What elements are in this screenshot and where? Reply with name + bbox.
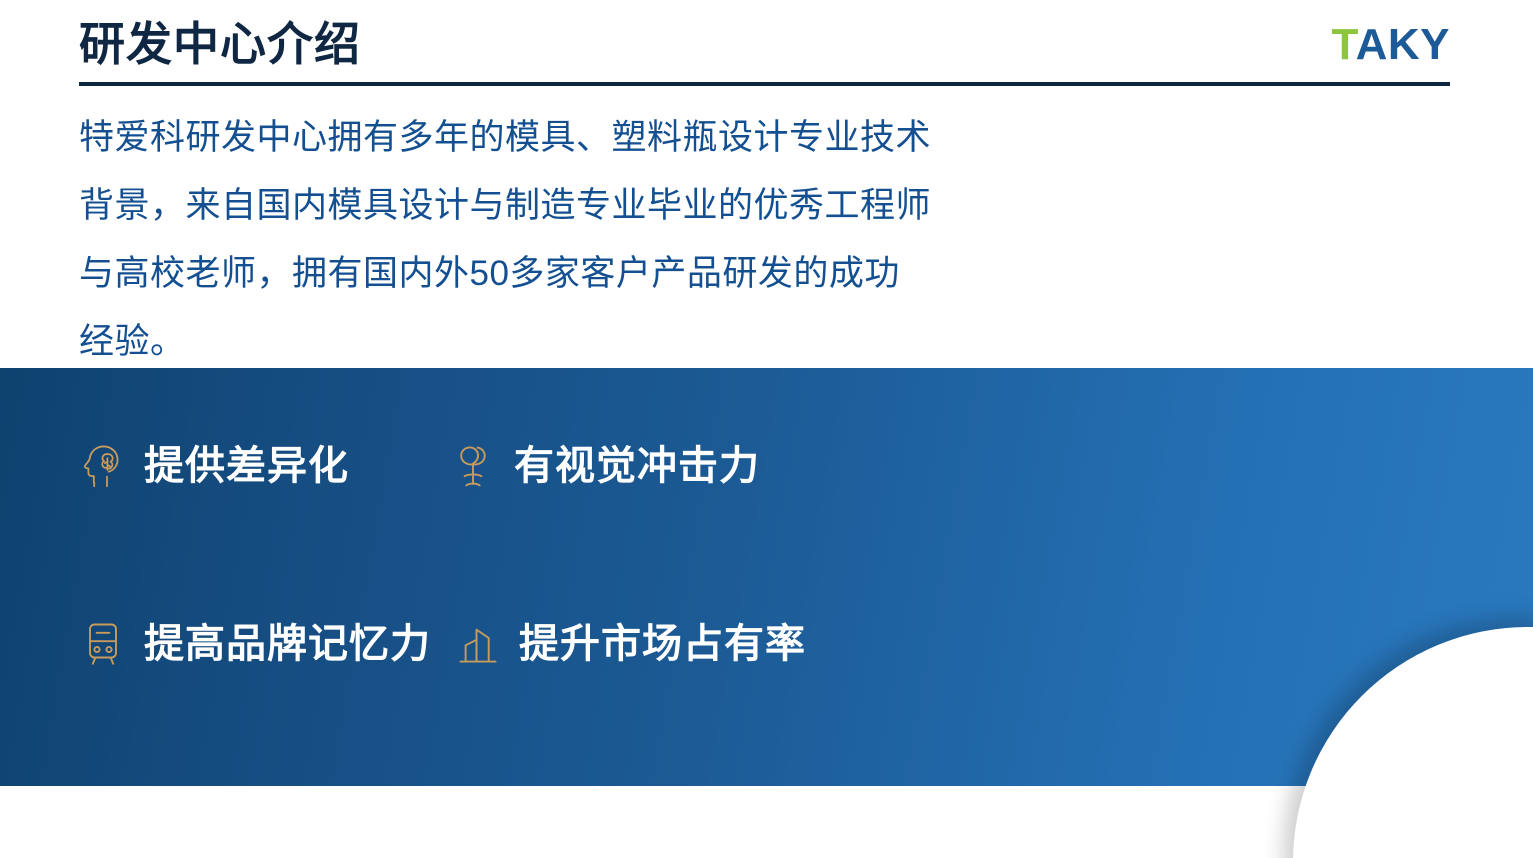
intro-paragraph: 特爱科研发中心拥有多年的模具、塑料瓶设计专业技术 背景，来自国内模具设计与制造专…: [79, 104, 1079, 376]
feature-grid: 提供差异化 有视觉冲击力: [80, 420, 940, 690]
intro-line: 背景，来自国内模具设计与制造专业毕业的优秀工程师: [79, 172, 1079, 240]
feature-row: 提供差异化 有视觉冲击力: [80, 420, 940, 512]
train-icon: [80, 618, 126, 670]
feature-label: 有视觉冲击力: [514, 442, 760, 490]
feature-item-differentiation: 提供差异化: [80, 440, 450, 492]
title-divider: [79, 82, 1450, 86]
logo-rest-letters: AKY: [1356, 20, 1450, 69]
page-title: 研发中心介绍: [79, 16, 361, 72]
slide-root: 研发中心介绍 TAKY 特爱科研发中心拥有多年的模具、塑料瓶设计专业技术 背景，…: [0, 0, 1533, 858]
intro-line: 与高校老师，拥有国内外50多家客户产品研发的成功: [79, 240, 1079, 308]
intro-line: 特爱科研发中心拥有多年的模具、塑料瓶设计专业技术: [79, 104, 1079, 172]
feature-row: 提高品牌记忆力 提升市场占有率: [80, 598, 940, 690]
feature-panel: 提供差异化 有视觉冲击力: [0, 368, 1533, 786]
logo-accent-letter: T: [1331, 20, 1355, 69]
feature-label: 提高品牌记忆力: [144, 620, 431, 668]
sprout-icon: [450, 440, 496, 492]
building-icon: [455, 618, 501, 670]
brand-logo: TAKY: [1331, 19, 1450, 71]
feature-item-brand-memory: 提高品牌记忆力: [80, 618, 455, 670]
intro-line: 经验。: [79, 308, 1079, 376]
feature-item-market-share: 提升市场占有率: [455, 618, 855, 670]
slide-header: 研发中心介绍 TAKY: [0, 0, 1533, 92]
feature-label: 提供差异化: [144, 442, 349, 490]
feature-label: 提升市场占有率: [519, 620, 806, 668]
feature-item-visual-impact: 有视觉冲击力: [450, 440, 850, 492]
brain-head-icon: [80, 440, 126, 492]
